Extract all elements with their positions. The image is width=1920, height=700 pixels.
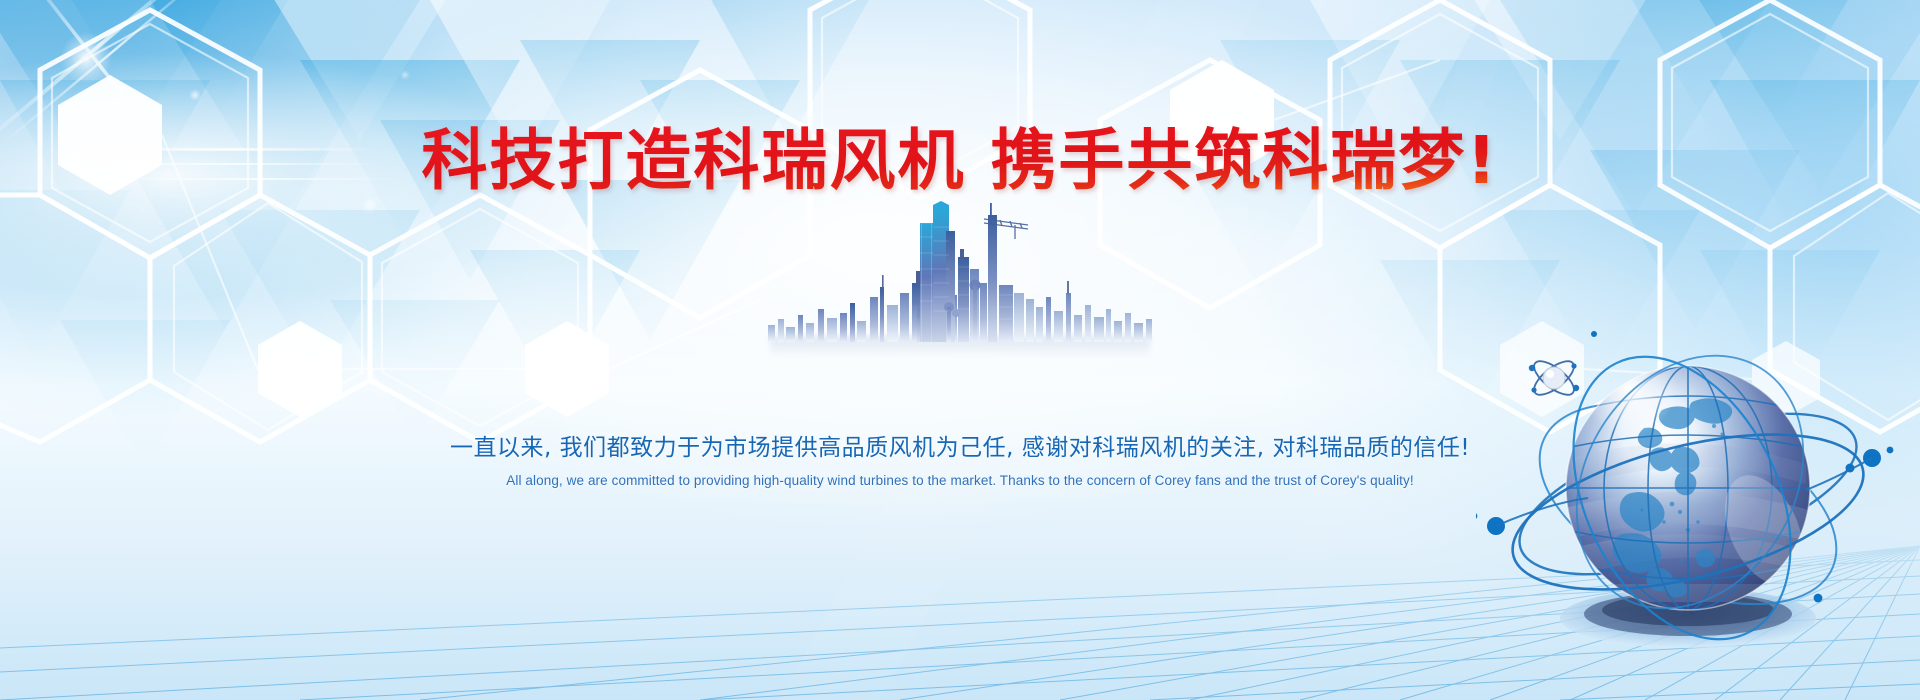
headline-container: 科技打造科瑞风机 携手共筑科瑞梦! bbox=[0, 126, 1920, 195]
globe-network-illustration bbox=[1476, 298, 1896, 678]
page-title: 科技打造科瑞风机 携手共筑科瑞梦! bbox=[421, 126, 1498, 195]
city-skyline-illustration bbox=[760, 197, 1160, 342]
promo-banner: .hexline { fill:none; stroke:#ffffff; st… bbox=[0, 0, 1920, 700]
